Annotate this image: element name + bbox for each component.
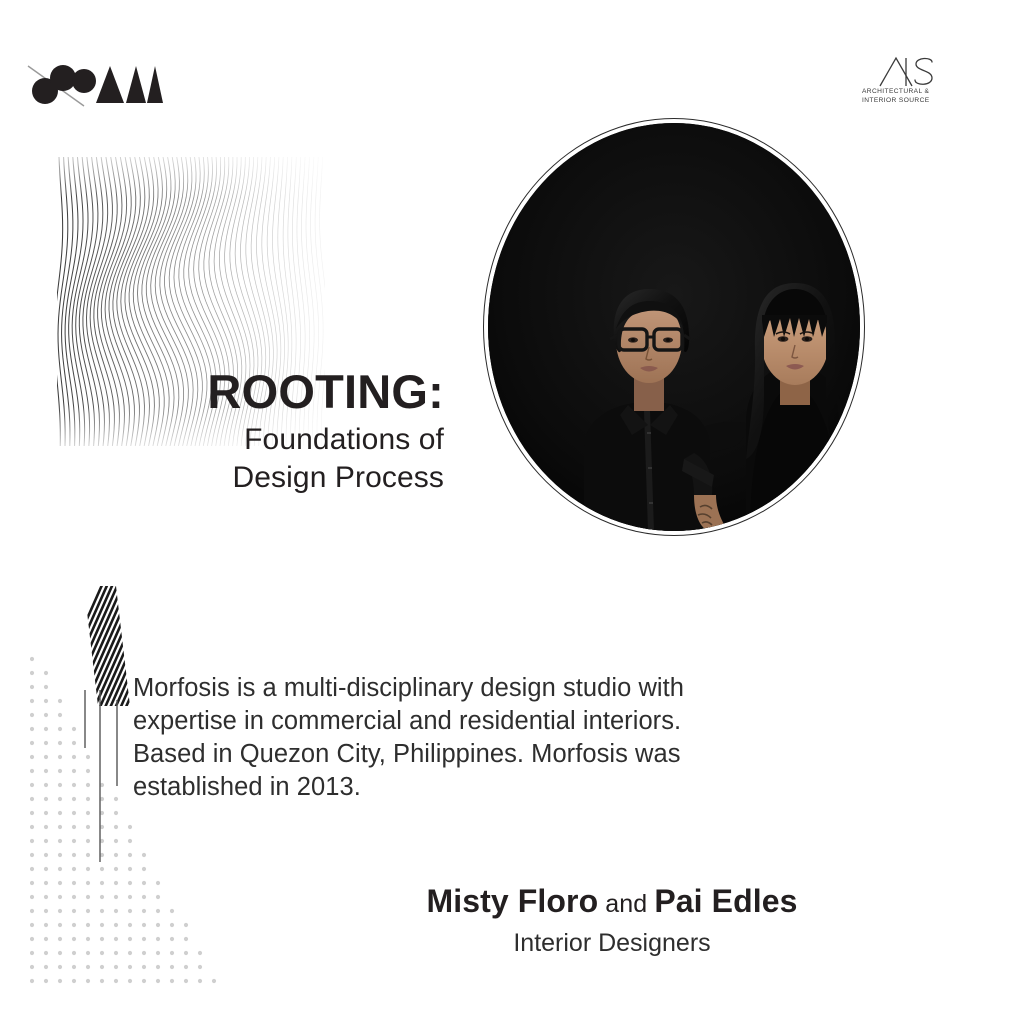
body-paragraph: Morfosis is a multi-disciplinary design …	[133, 672, 753, 804]
morfosis-circles-triangles-icon	[26, 58, 166, 108]
page-subtitle-line2: Design Process	[233, 461, 445, 494]
morfosis-logo	[26, 58, 166, 108]
designer-name-1: Misty Floro	[426, 883, 598, 919]
portrait-ring-border	[483, 118, 865, 536]
ais-logo: ARCHITECTURAL & INTERIOR SOURCE	[858, 54, 954, 112]
poster-canvas: ARCHITECTURAL & INTERIOR SOURCE	[0, 0, 1024, 1024]
page-subtitle-line1: Foundations of	[244, 423, 444, 456]
designer-names: Misty Floro and Pai Edles	[300, 880, 924, 925]
page-title: ROOTING:	[60, 366, 444, 418]
title-block: ROOTING: Foundations ofDesign Process	[60, 366, 444, 497]
credits-block: Misty Floro and Pai Edles Interior Desig…	[300, 880, 924, 960]
ais-tagline-line1: ARCHITECTURAL &	[862, 88, 954, 97]
vertical-rule-lines	[84, 690, 134, 875]
portrait	[483, 118, 865, 536]
vertical-rule-lines-icon	[84, 690, 134, 875]
designer-role: Interior Designers	[300, 927, 924, 960]
names-conjunction: and	[598, 890, 654, 918]
page-subtitle: Foundations ofDesign Process	[60, 421, 444, 497]
ais-monogram-icon	[858, 54, 954, 88]
designer-name-2: Pai Edles	[654, 883, 797, 919]
ais-tagline-line2: INTERIOR SOURCE	[862, 97, 954, 106]
